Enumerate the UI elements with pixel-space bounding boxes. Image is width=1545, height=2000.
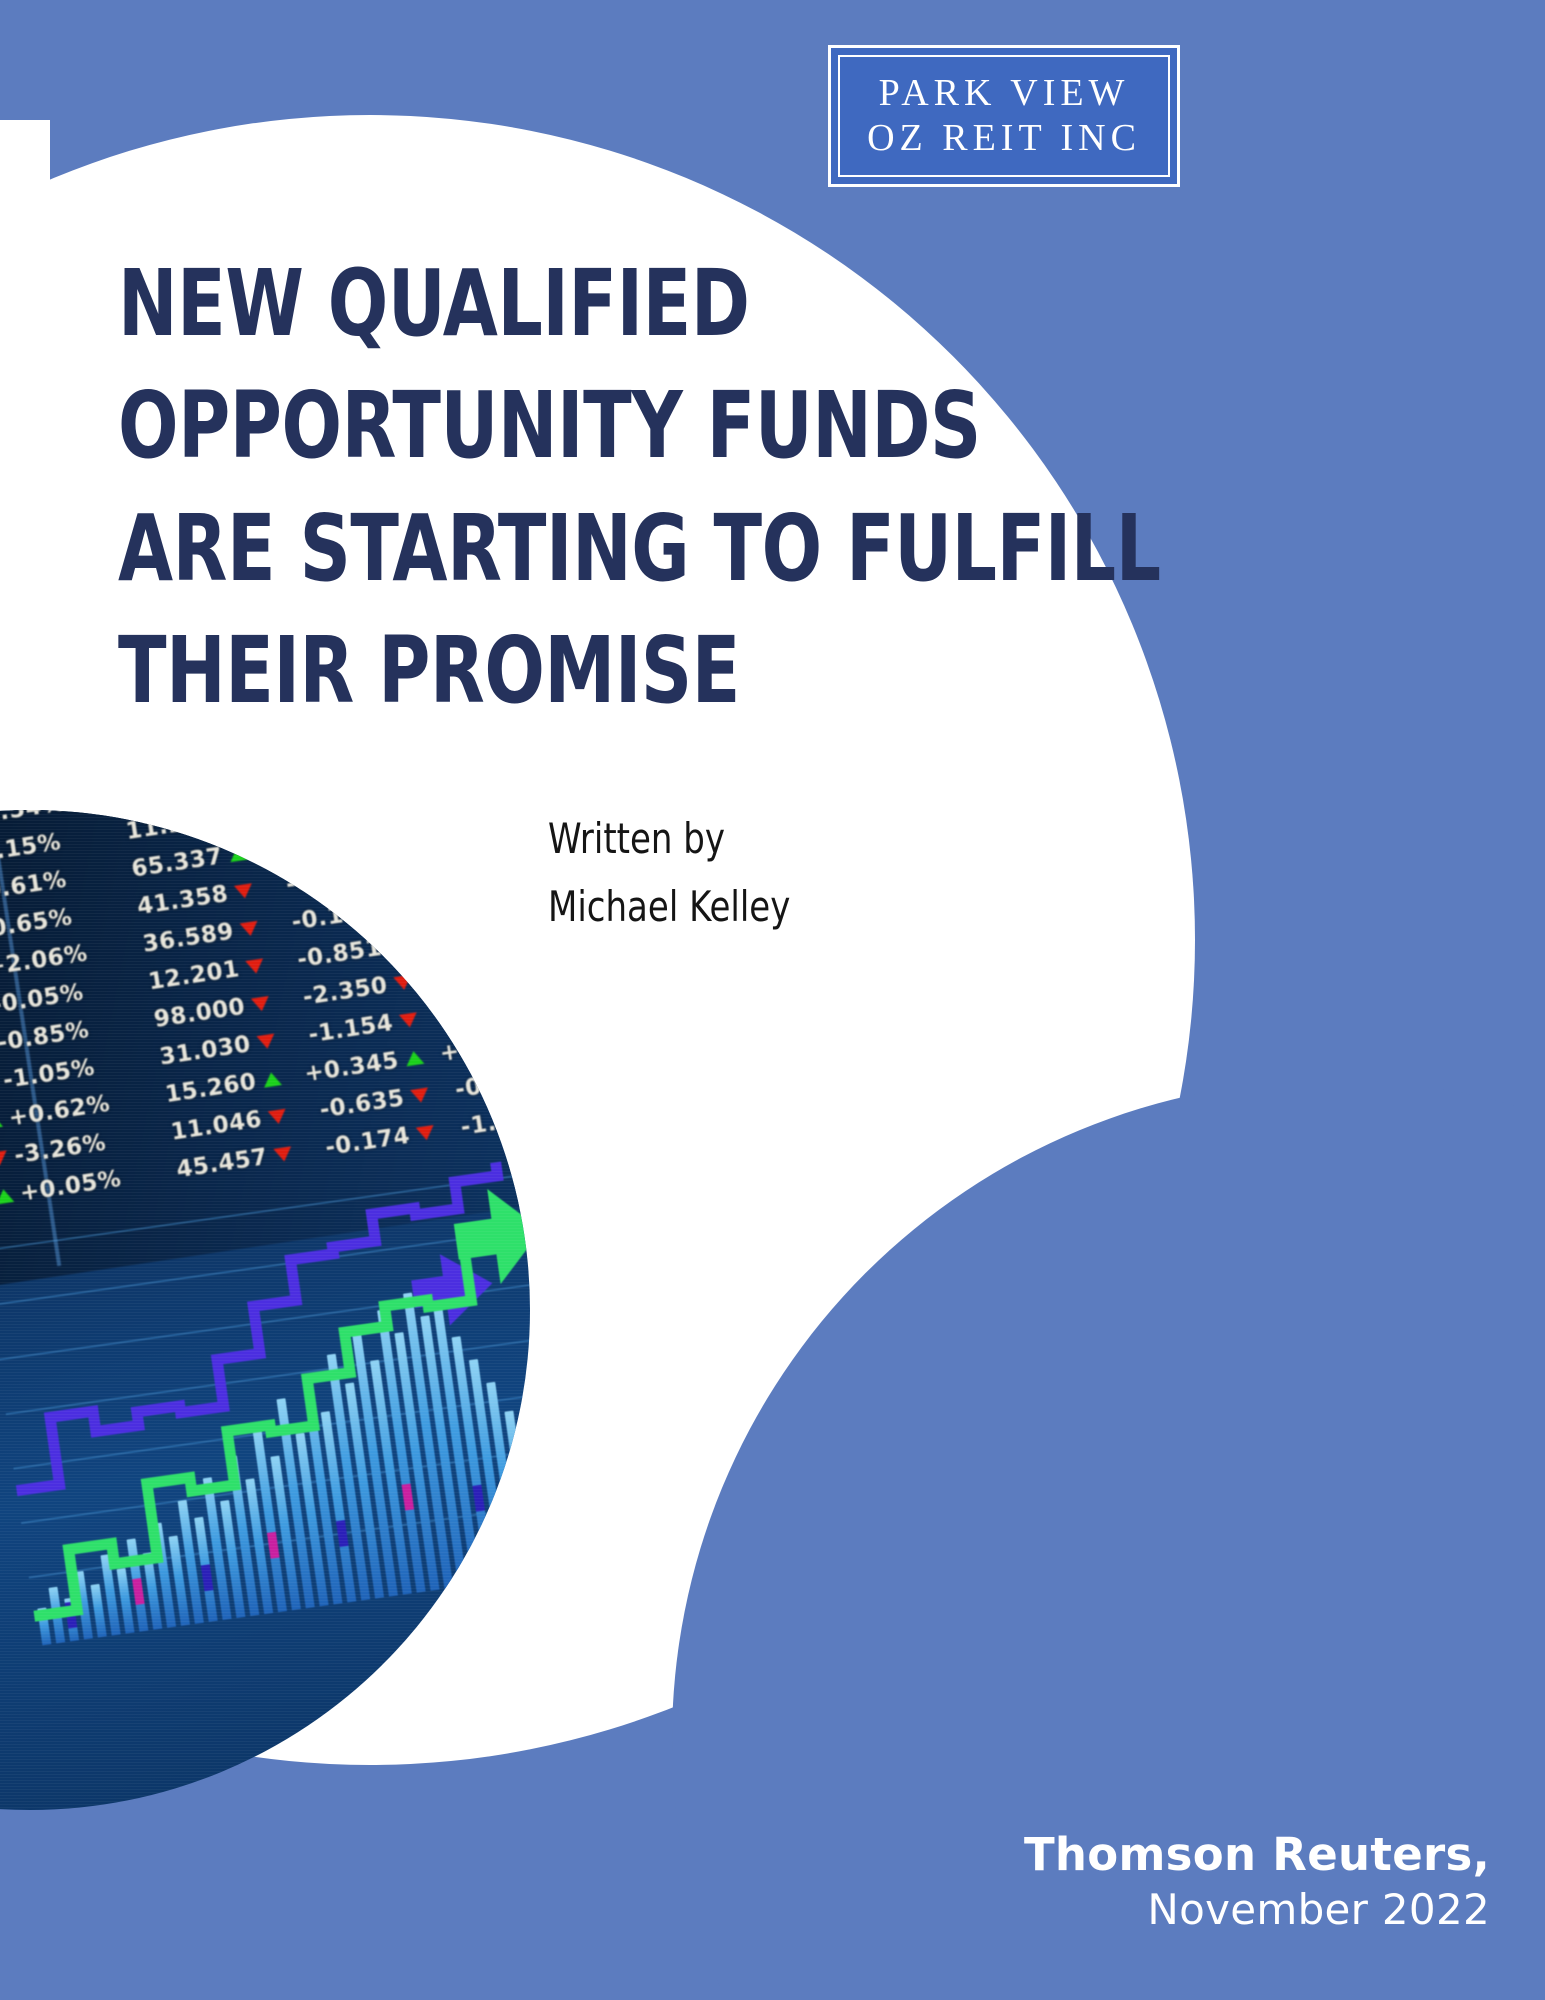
author-credit: Written by Michael Kelley: [548, 805, 817, 941]
title-line-3: ARE STARTING TO FULFILL: [118, 488, 909, 610]
title-line-1: NEW QUALIFIED: [118, 243, 909, 365]
arrow-down-icon: [251, 996, 271, 1013]
publisher-credit: Thomson Reuters, November 2022: [1024, 1827, 1490, 1938]
arrow-up-icon: [0, 1188, 14, 1205]
arrow-down-icon: [388, 937, 408, 954]
arrow-down-icon: [245, 958, 265, 975]
arrow-up-icon: [371, 824, 391, 841]
author-name: Michael Kelley: [548, 873, 790, 941]
arrow-down-icon: [234, 883, 254, 900]
arrow-down-icon: [273, 1146, 293, 1163]
trend-lines-svg: [0, 1152, 530, 1646]
publication-date: November 2022: [1024, 1883, 1490, 1938]
page-title: NEW QUALIFIED OPPORTUNITY FUNDS ARE STAR…: [118, 243, 1038, 732]
title-line-2: OPPORTUNITY FUNDS: [118, 365, 909, 487]
arrow-down-icon: [256, 1034, 276, 1051]
company-logo[interactable]: PARK VIEW OZ REIT INC: [828, 45, 1180, 187]
cover-page: +1.54%14.700-0.15%11.200+0.155-0.61%65.3…: [0, 0, 1545, 2000]
logo-line-2: OZ REIT INC: [867, 117, 1141, 160]
arrow-down-icon: [376, 862, 396, 879]
author-prefix: Written by: [548, 805, 790, 873]
annotation-040: +040%: [487, 1758, 530, 1776]
arrow-down-icon: [240, 921, 260, 938]
title-line-4: THEIR PROMISE: [118, 610, 909, 732]
arrow-down-icon: [382, 900, 402, 917]
arrow-up-icon: [262, 1071, 282, 1088]
arrow-up-icon: [228, 846, 248, 863]
stock-screen-photo: +1.54%14.700-0.15%11.200+0.155-0.61%65.3…: [0, 810, 530, 1810]
stock-screen-image: +1.54%14.700-0.15%11.200+0.155-0.61%65.3…: [0, 810, 530, 1810]
annotation-025: +025 %: [487, 1687, 530, 1705]
trend-chart: [0, 1152, 530, 1646]
arrow-up-icon: [405, 1050, 425, 1067]
arrow-down-icon: [416, 1125, 436, 1142]
arrow-down-icon: [0, 1150, 9, 1167]
cyan-bar-1: [480, 1635, 522, 1810]
logo-line-1: PARK VIEW: [879, 72, 1130, 115]
arrow-up-icon: [0, 1113, 3, 1130]
arrow-down-icon: [410, 1087, 430, 1104]
arrow-down-icon: [268, 1109, 288, 1126]
publisher-name: Thomson Reuters,: [1024, 1827, 1490, 1883]
arrow-up-icon: [223, 810, 243, 825]
arrow-down-icon: [393, 975, 413, 992]
arrow-down-icon: [399, 1012, 419, 1029]
